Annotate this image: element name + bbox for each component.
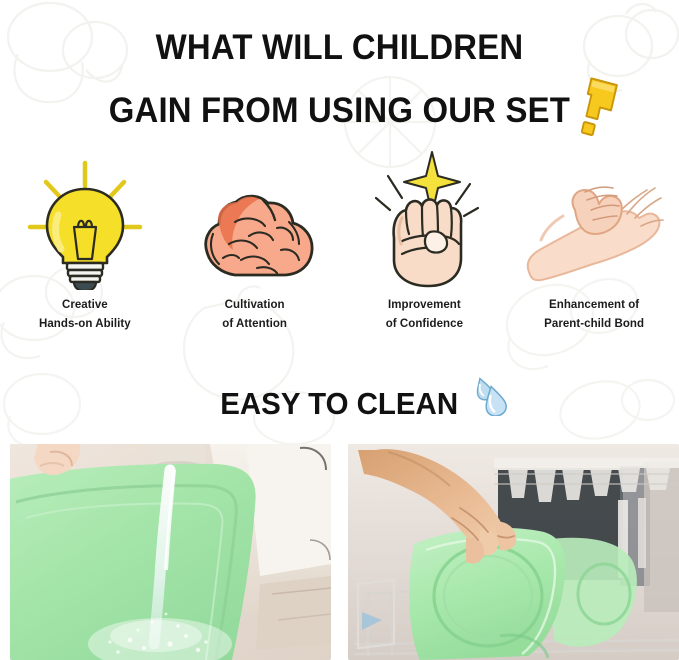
feature-item-improvement-of-confidence: Improvement of Confidence: [340, 150, 510, 340]
photo-row: [0, 444, 679, 660]
feature-item-creative-hands-on-ability: Creative Hands-on Ability: [0, 150, 170, 340]
easy-to-clean-block: EASY TO CLEAN: [0, 388, 679, 419]
feature-caption-3-line-2: of Confidence: [386, 315, 463, 334]
easy-to-clean-inner: EASY TO CLEAN: [214, 388, 464, 419]
easy-to-clean-title: EASY TO CLEAN: [221, 388, 459, 419]
fist-with-sparkle-icon: [340, 150, 510, 290]
product-infographic-page: WHAT WILL CHILDREN GAIN FROM USING OUR S…: [0, 0, 679, 660]
feature-caption-4-line-2: Parent-child Bond: [544, 315, 644, 334]
feature-caption-4-line-1: Enhancement of: [544, 296, 644, 315]
feature-caption-4: Enhancement of Parent-child Bond: [544, 296, 644, 333]
feature-caption-1-line-1: Creative: [39, 296, 131, 315]
mat-in-dishwasher-photo: [348, 444, 679, 660]
heading-line-1: WHAT WILL CHILDREN: [20, 30, 658, 65]
two-hands-icon: [509, 150, 679, 290]
feature-caption-3: Improvement of Confidence: [386, 296, 463, 333]
heading-line-2: GAIN FROM USING OUR SET: [109, 91, 570, 130]
feature-caption-2-line-2: of Attention: [222, 315, 287, 334]
rinsing-mat-under-faucet-photo: [10, 444, 331, 660]
main-heading-block: WHAT WILL CHILDREN GAIN FROM USING OUR S…: [0, 30, 679, 128]
water-drops-icon: [471, 376, 509, 421]
lightbulb-icon: [0, 150, 170, 290]
feature-caption-1-line-2: Hands-on Ability: [39, 315, 131, 334]
brain-icon: [170, 150, 340, 290]
feature-caption-1: Creative Hands-on Ability: [39, 296, 131, 333]
feature-item-cultivation-of-attention: Cultivation of Attention: [170, 150, 340, 340]
heading-line-2-wrap: GAIN FROM USING OUR SET: [109, 93, 570, 128]
feature-row: Creative Hands-on Ability: [0, 150, 679, 340]
feature-caption-3-line-1: Improvement: [386, 296, 463, 315]
question-mark-icon: [572, 67, 625, 151]
feature-caption-2: Cultivation of Attention: [222, 296, 287, 333]
feature-item-enhancement-of-parent-child-bond: Enhancement of Parent-child Bond: [509, 150, 679, 340]
feature-caption-2-line-1: Cultivation: [222, 296, 287, 315]
